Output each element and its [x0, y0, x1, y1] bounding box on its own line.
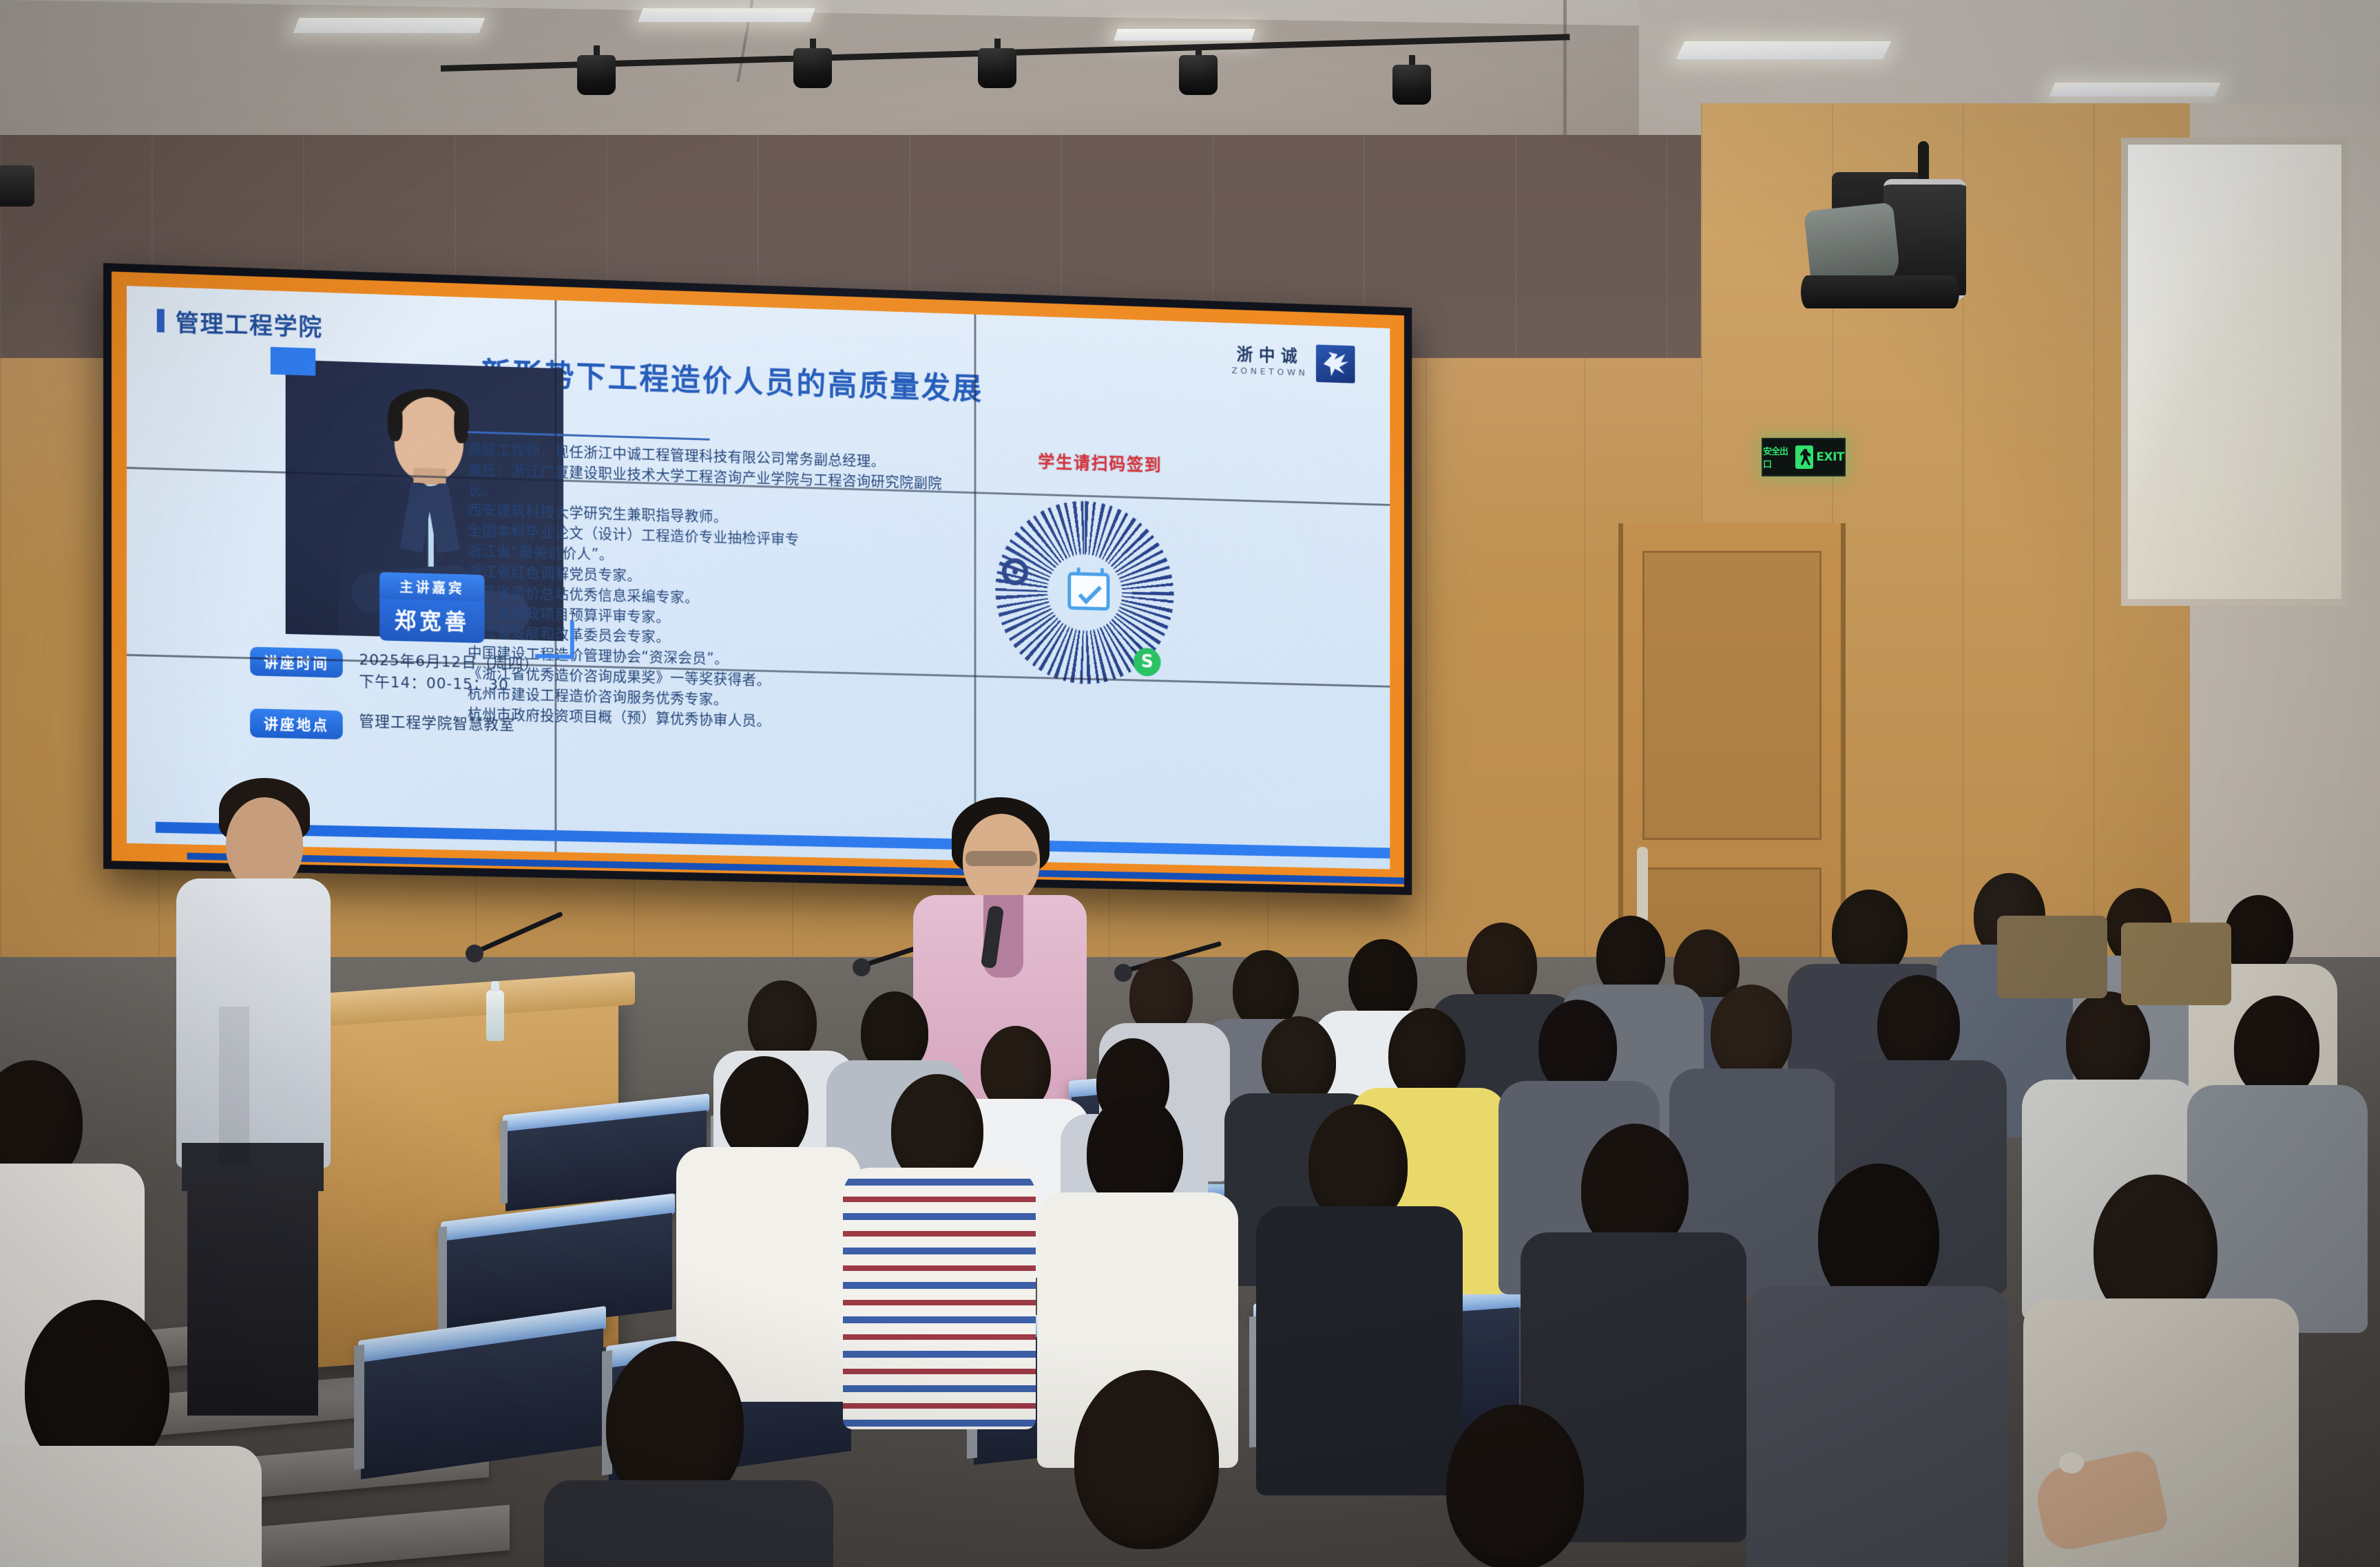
speaker-bio: 高级工程师，现任浙江中诚工程管理科技有限公司常务副总经理。 兼任：浙江广厦建设职…	[468, 439, 962, 736]
speaker-role-label: 主讲嘉宾	[379, 572, 485, 602]
speaker-hair-side	[388, 403, 403, 441]
photo-accent-square	[271, 347, 315, 376]
ceiling-light	[293, 18, 486, 33]
host-shirt	[176, 879, 331, 1168]
audience-torso	[2187, 1085, 2368, 1333]
door-handle[interactable]	[1637, 847, 1648, 923]
department-title: 管理工程学院	[176, 304, 323, 342]
microphone-head	[466, 945, 483, 963]
logo-mark-icon	[1316, 344, 1355, 383]
host-head	[226, 797, 303, 891]
wechat-icon: S	[1134, 648, 1161, 677]
speaker-hair-side	[454, 405, 469, 443]
ceiling-light	[638, 8, 815, 22]
side-camera	[0, 165, 34, 207]
running-man-icon	[1795, 445, 1814, 469]
ceiling-light	[1676, 41, 1892, 59]
desk-leg	[354, 1345, 364, 1470]
company-logo: 浙中诚 ZONETOWN	[1231, 341, 1355, 383]
audience-torso	[1256, 1206, 1463, 1495]
window	[2121, 138, 2348, 606]
chair	[2121, 923, 2231, 1005]
track-spotlight	[978, 39, 1016, 90]
eyeglasses-icon	[965, 851, 1037, 866]
header-accent-bar	[157, 308, 165, 332]
slide-footer-bar	[156, 822, 1390, 859]
camera-base	[1801, 275, 1959, 308]
lecture-time-label: 讲座时间	[250, 646, 343, 677]
audience-torso	[0, 1446, 262, 1567]
microphone-head	[1114, 964, 1132, 982]
audience-head	[1074, 1370, 1219, 1549]
ceiling-light	[2049, 83, 2221, 96]
exit-sign-cn-label: 安全出口	[1763, 444, 1793, 470]
door-panel	[1642, 551, 1821, 840]
audience-head	[1711, 985, 1792, 1082]
presentation-slide: 管理工程学院 浙中诚 ZONETOWN 新形势下工程造价人员的高质量发展	[112, 271, 1404, 887]
audience-head	[1348, 939, 1417, 1022]
microphone-head	[853, 958, 870, 976]
lecture-hall-photo: 安全出口 EXIT 管理工程学院 浙中诚 ZONETOWN	[0, 0, 2380, 1567]
audience-head	[2234, 996, 2319, 1099]
calendar-check-icon	[1067, 572, 1109, 611]
audience-head	[1446, 1405, 1584, 1567]
desk-leg	[500, 1120, 508, 1203]
audience-torso	[1746, 1286, 2008, 1567]
audience-head	[2066, 991, 2150, 1093]
logo-chinese-name: 浙中诚	[1231, 346, 1308, 365]
audience-torso-striped	[843, 1168, 1036, 1429]
host-shirt-placket	[219, 1007, 249, 1165]
audience-torso	[544, 1480, 833, 1567]
lecture-location-label: 讲座地点	[250, 708, 343, 739]
slide-canvas: 管理工程学院 浙中诚 ZONETOWN 新形势下工程造价人员的高质量发展	[127, 286, 1390, 869]
speaker-name-badge: 主讲嘉宾 郑宽善	[379, 572, 485, 643]
scan-signin-title: 学生请扫码签到	[1038, 448, 1162, 476]
water-bottle	[486, 990, 504, 1041]
host-trousers	[187, 1181, 318, 1416]
track-spotlight	[1392, 55, 1431, 106]
ring	[2059, 1453, 2084, 1473]
exit-sign-en-label: EXIT	[1816, 450, 1844, 464]
track-spotlight	[577, 45, 616, 96]
logo-english-name: ZONETOWN	[1231, 366, 1308, 377]
track-spotlight	[793, 39, 832, 90]
audience-head	[1877, 975, 1960, 1074]
speaker-name: 郑宽善	[379, 599, 485, 643]
track-spotlight	[1179, 45, 1218, 96]
wall-camera	[1801, 141, 1980, 320]
emergency-exit-sign: 安全出口 EXIT	[1762, 438, 1846, 476]
qr-finder-icon	[1002, 558, 1028, 585]
desk-leg	[438, 1226, 447, 1329]
slide-header: 管理工程学院	[157, 304, 323, 343]
chair	[1997, 916, 2107, 998]
photo-accent-corner	[535, 620, 574, 659]
ceiling-light	[1114, 29, 1255, 41]
